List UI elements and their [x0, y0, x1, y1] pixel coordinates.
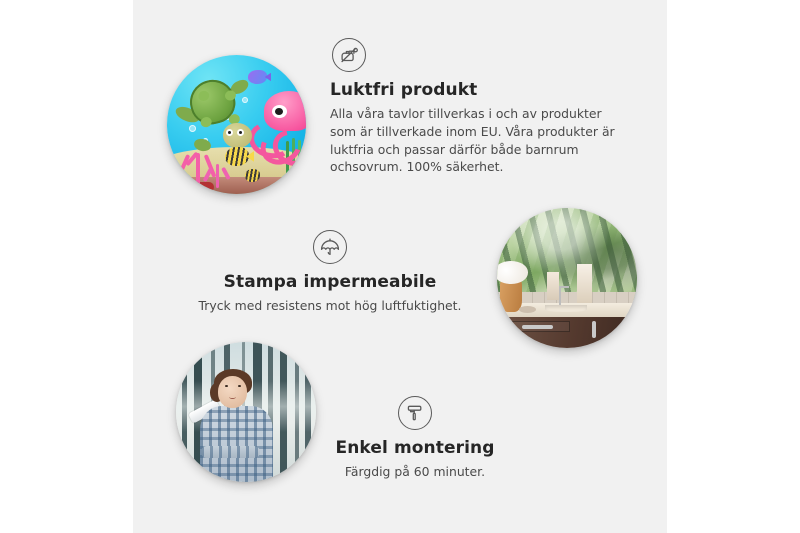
feature-title: Enkel montering [285, 438, 545, 458]
soap-bottle [577, 264, 592, 303]
feature-easy-mounting: Enkel montering Färgdig på 60 minuter. [285, 396, 545, 481]
paint-roller-icon [398, 396, 432, 430]
feature-title: Luktfri produkt [330, 80, 630, 100]
woman-plaid-shirt [200, 406, 273, 482]
soap-bottle [547, 272, 558, 300]
faucet-icon [559, 286, 561, 304]
no-fragrance-icon [332, 38, 366, 72]
yellow-striped-fish-icon [245, 169, 260, 182]
umbrella-icon [313, 230, 347, 264]
woman-face [218, 376, 247, 408]
sea-turtle-icon [178, 79, 250, 146]
woman-crossed-arms [201, 446, 260, 459]
feature-odour-free: Luktfri produkt Alla våra tavlor tillver… [330, 38, 630, 176]
octopus-icon [248, 91, 306, 155]
product-feature-panel: Luktfri produkt Alla våra tavlor tillver… [0, 0, 800, 533]
feature-description: Färgdig på 60 minuter. [285, 463, 545, 481]
underwater-artwork [167, 55, 306, 194]
photo-bathroom-interior [497, 208, 637, 348]
white-flowers [497, 261, 528, 283]
feature-title: Stampa impermeabile [180, 272, 480, 292]
wood-vanity-cabinet [497, 317, 637, 348]
bathroom-artwork [497, 208, 637, 348]
sink-basin [545, 305, 587, 312]
feature-description: Tryck med resistens mot hög luftfuktighe… [180, 297, 480, 315]
photo-underwater-mural [167, 55, 306, 194]
feature-description: Alla våra tavlor tillverkas i och av pro… [330, 105, 630, 175]
feature-waterproof: Stampa impermeabile Tryck med resistens … [180, 230, 480, 315]
